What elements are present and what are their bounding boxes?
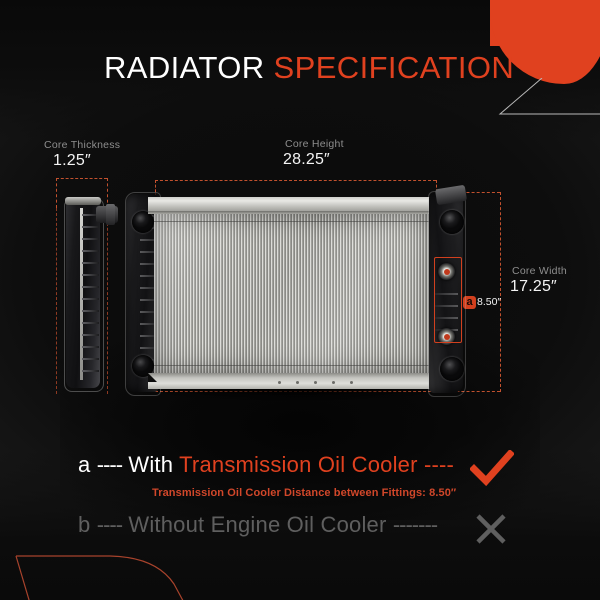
fitting-distance-value: 8.50″ [477, 296, 501, 309]
legend-dash-right-b: ------- [393, 512, 437, 537]
cross-icon [474, 512, 508, 546]
right-upper-port [440, 210, 464, 234]
legend-dash-left-a: ---- [97, 452, 122, 477]
title-accent: SPECIFICATION [274, 50, 515, 85]
title-primary: RADIATOR [104, 50, 265, 85]
thickness-guide-right [107, 208, 108, 394]
legend-dash-right-a: ---- [424, 452, 454, 477]
core-height-caption: Core Height [285, 138, 344, 150]
core-thickness-caption: Core Thickness [44, 139, 120, 151]
side-view-hose-neck-end [106, 204, 115, 225]
page-title: RADIATOR SPECIFICATION [104, 50, 514, 86]
radiator-core-sheen [154, 214, 434, 373]
upper-tank-seam [148, 211, 440, 214]
specification-image: RADIATOR SPECIFICATION Core Thickness 1.… [0, 0, 600, 600]
legend-key-b: b [78, 512, 90, 537]
core-thickness-value: 1.25″ [53, 152, 91, 170]
upper-hose-inlet [132, 211, 154, 233]
radiator-side-view [62, 200, 106, 388]
legend-dash-left-b: ---- [97, 512, 122, 537]
lower-tank [148, 373, 440, 389]
legend-label-plain-b: Without Engine Oil Cooler [128, 512, 386, 537]
side-view-top-cap [65, 197, 101, 205]
legend-row-a: a ---- With Transmission Oil Cooler ---- [78, 452, 454, 478]
legend-key-a: a [78, 452, 90, 477]
core-width-caption: Core Width [512, 265, 567, 277]
thickness-bracket-top [56, 178, 107, 179]
footer-outline-accent [6, 548, 216, 600]
legend-note: Transmission Oil Cooler Distance between… [152, 487, 456, 499]
width-bracket-outer [500, 192, 501, 392]
side-view-bottom-cap [65, 383, 101, 391]
side-view-core-strip [80, 208, 83, 380]
legend-label-accent-a: Transmission Oil Cooler [179, 452, 418, 477]
legend-row-b: b ---- Without Engine Oil Cooler ------- [78, 512, 437, 538]
transmission-cooler-highlight [434, 257, 462, 343]
height-bracket-top [155, 180, 436, 181]
right-lower-port [440, 357, 464, 381]
radiator-front-view [148, 197, 440, 389]
core-height-value: 28.25″ [283, 151, 330, 169]
core-width-value: 17.25″ [510, 278, 557, 296]
legend-label-plain-a: With [128, 452, 173, 477]
check-icon [470, 450, 514, 486]
thickness-bracket-left [56, 178, 57, 208]
thickness-guide-left [56, 208, 57, 394]
